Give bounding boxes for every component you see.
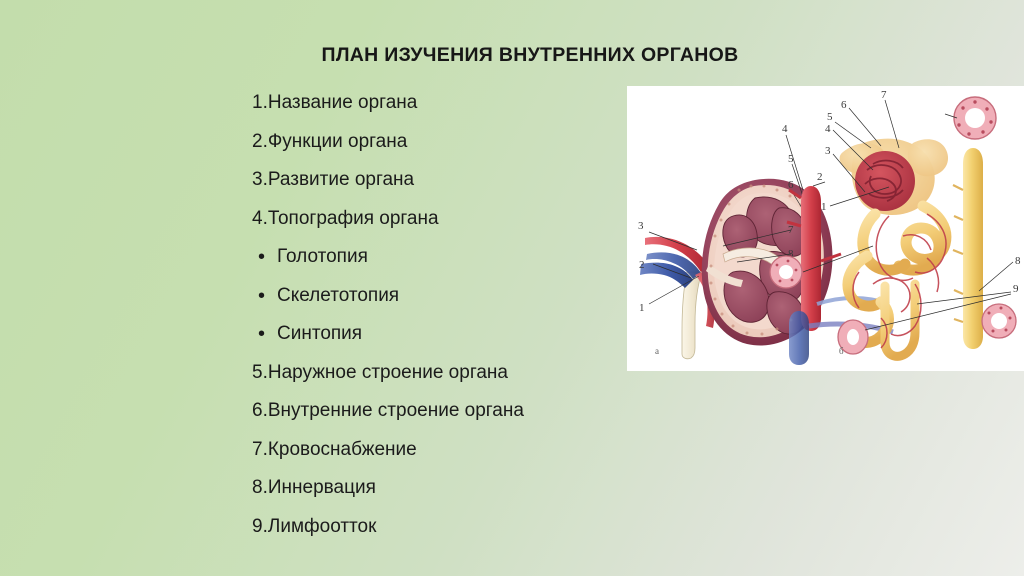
anatomy-illustration: 1 2 3 4 5 6 7 8 а	[627, 86, 1024, 371]
figure-label-4: 4	[825, 123, 831, 135]
list-item-label: Развитие органа	[268, 169, 414, 191]
figure-label-3: 3	[825, 145, 831, 157]
list-item-label: Топография органа	[268, 208, 439, 230]
list-item-label: Иннервация	[268, 477, 376, 499]
figure-label-9: 9	[1013, 283, 1019, 295]
figure-sublabel-a: а	[655, 346, 659, 356]
list-item-marker: 3.	[252, 169, 268, 191]
list-item-label: Лимфоотток	[268, 516, 377, 538]
list-item: 2. Функции органа	[252, 123, 622, 162]
agenda-list: 1. Название органа 2. Функции органа 3. …	[252, 84, 622, 546]
list-item-marker: 7.	[252, 439, 268, 461]
proximal-tubule-loop	[908, 139, 948, 176]
list-item: 1. Название органа	[252, 84, 622, 123]
list-item: 3. Развитие органа	[252, 161, 622, 200]
figure-label-1: 1	[639, 302, 645, 314]
figure-label-2: 2	[817, 171, 823, 183]
list-item-marker: 5.	[252, 362, 268, 384]
bullet-icon: •	[258, 286, 277, 306]
figure-label-8: 8	[1015, 255, 1021, 267]
list-item: 8. Иннервация	[252, 469, 622, 508]
anatomy-figure-panel: 1 2 3 4 5 6 7 8 а	[627, 86, 1024, 371]
figure-sublabel-b: б	[839, 346, 844, 356]
figure-label-6: 6	[788, 179, 794, 191]
list-item-label: Внутренние строение органа	[268, 400, 524, 422]
figure-label-3: 3	[638, 220, 644, 232]
tissue-cross-section-ring	[770, 256, 802, 288]
list-item: 9. Лимфоотток	[252, 508, 622, 547]
figure-label-7: 7	[881, 89, 887, 101]
arteriole-trunk	[801, 186, 821, 331]
figure-label-5: 5	[788, 153, 794, 165]
list-item-marker: 8.	[252, 477, 268, 499]
bullet-icon: •	[258, 247, 277, 267]
list-item-label: Кровоснабжение	[268, 439, 417, 461]
list-item-marker: 4.	[252, 208, 268, 230]
list-item-label: Скелетотопия	[277, 285, 399, 307]
tissue-cross-section-ring	[982, 304, 1016, 338]
venule-trunk	[789, 311, 809, 365]
figure-label-2: 2	[639, 259, 645, 271]
list-item-label: Название органа	[268, 92, 417, 114]
tissue-cross-section-ring	[954, 97, 996, 139]
list-item: • Голотопия	[252, 238, 622, 277]
list-item: • Синтопия	[252, 315, 622, 354]
list-item-marker: 1.	[252, 92, 268, 114]
list-item-marker: 2.	[252, 131, 268, 153]
bullet-icon: •	[258, 324, 277, 344]
list-item-label: Наружное строение органа	[268, 362, 508, 384]
list-item: 7. Кровоснабжение	[252, 431, 622, 470]
slide-canvas: ПЛАН ИЗУЧЕНИЯ ВНУТРЕННИХ ОРГАНОВ 1. Назв…	[0, 0, 1024, 576]
figure-label-7: 7	[788, 224, 794, 236]
list-item-label: Синтопия	[277, 323, 362, 345]
list-item-marker: 6.	[252, 400, 268, 422]
figure-label-1: 1	[821, 201, 827, 213]
list-item: 6. Внутренние строение органа	[252, 392, 622, 431]
list-item: 4. Топография органа	[252, 200, 622, 239]
list-item-marker: 9.	[252, 516, 268, 538]
collecting-duct	[963, 148, 983, 349]
page-title: ПЛАН ИЗУЧЕНИЯ ВНУТРЕННИХ ОРГАНОВ	[250, 44, 810, 67]
figure-label-4: 4	[782, 123, 788, 135]
list-item: 5. Наружное строение органа	[252, 354, 622, 393]
figure-label-6: 6	[841, 99, 847, 111]
list-item-label: Голотопия	[277, 246, 368, 268]
figure-label-5: 5	[827, 111, 833, 123]
list-item-label: Функции органа	[268, 131, 407, 153]
list-item: • Скелетотопия	[252, 277, 622, 316]
